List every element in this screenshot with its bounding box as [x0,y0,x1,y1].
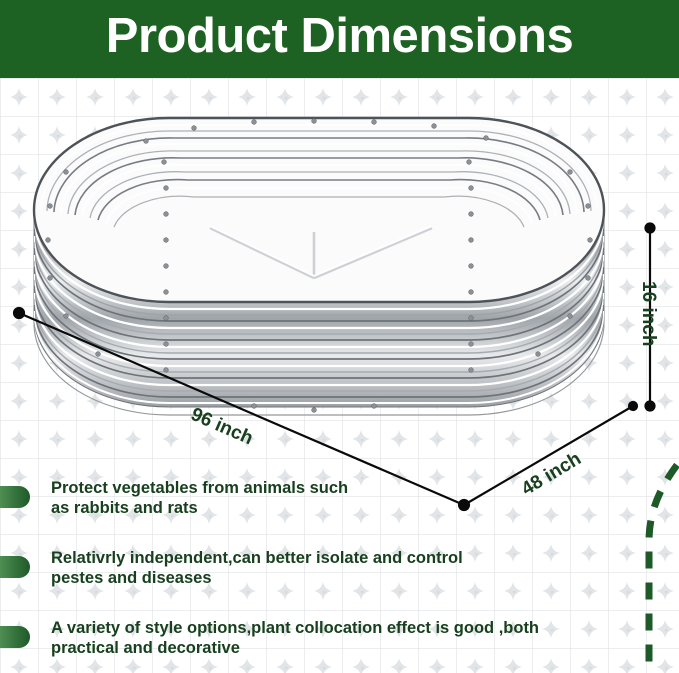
list-item: Relativrly independent,can better isolat… [0,550,679,620]
list-item: A variety of style options,plant colloca… [0,620,679,673]
product-dimensions-infographic: Product Dimensions [0,0,679,673]
pill-bullet-icon [0,486,30,508]
feature-list: Protect vegetables from animals such as … [0,480,679,673]
dashed-arc-decoration [619,455,679,673]
feature-text: A variety of style options,plant colloca… [51,618,651,658]
pill-bullet-icon [0,556,30,578]
feature-text: Protect vegetables from animals such as … [51,478,651,518]
feature-text: Relativrly independent,can better isolat… [51,548,651,588]
list-item: Protect vegetables from animals such as … [0,480,679,550]
raised-garden-bed-illustration [14,86,634,496]
pill-bullet-icon [0,626,30,648]
page-title: Product Dimensions [0,0,679,78]
dimension-label-height: 16 inch [637,281,659,346]
